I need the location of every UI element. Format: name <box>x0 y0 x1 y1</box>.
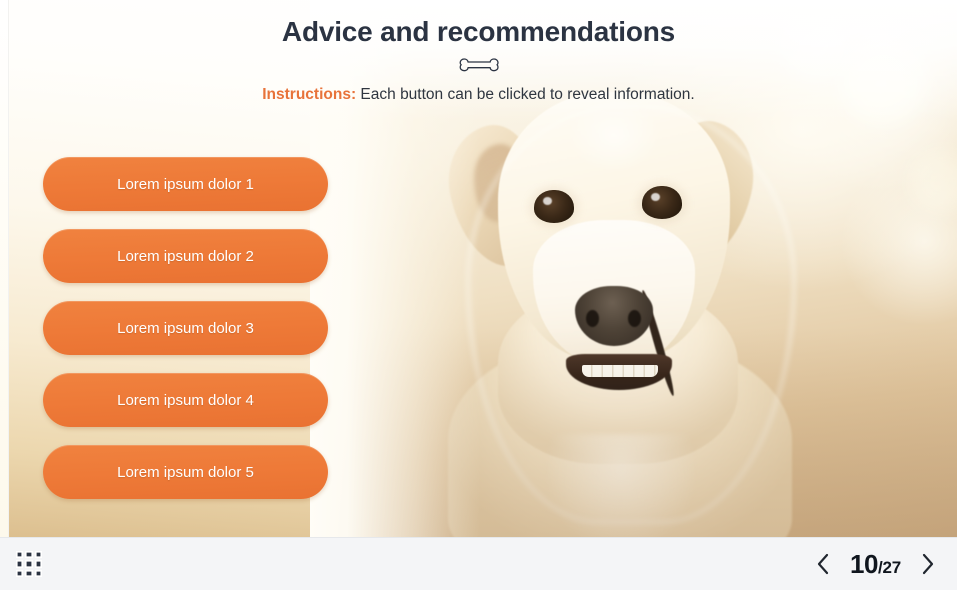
grid-menu-icon[interactable] <box>16 551 42 577</box>
page-title: Advice and recommendations <box>0 16 957 48</box>
grid-cell <box>25 551 32 558</box>
instructions-label: Instructions: <box>262 86 356 103</box>
grid-cell <box>35 570 42 577</box>
total-page-number: /27 <box>878 558 901 578</box>
grid-cell <box>35 560 42 567</box>
lesson-button-4[interactable]: Lorem ipsum dolor 4 <box>43 373 328 427</box>
lesson-button-list: Lorem ipsum dolor 1 Lorem ipsum dolor 2 … <box>43 157 328 517</box>
grid-cell <box>25 570 32 577</box>
grid-cell <box>35 551 42 558</box>
instructions-text: Each button can be clicked to reveal inf… <box>356 86 695 103</box>
lesson-button-3[interactable]: Lorem ipsum dolor 3 <box>43 301 328 355</box>
bone-icon <box>0 54 957 76</box>
instructions-line: Instructions: Each button can be clicked… <box>0 86 957 104</box>
slide-header: Advice and recommendations Instructions:… <box>0 0 957 104</box>
lesson-button-1[interactable]: Lorem ipsum dolor 1 <box>43 157 328 211</box>
grid-cell <box>16 551 23 558</box>
slide-root: Advice and recommendations Instructions:… <box>0 0 957 590</box>
chevron-left-icon[interactable] <box>812 550 834 578</box>
grid-cell <box>16 560 23 567</box>
current-page-number: 10 <box>850 549 878 580</box>
slide-footer: 10 /27 <box>0 537 957 590</box>
chevron-right-icon[interactable] <box>917 550 939 578</box>
pagination: 10 /27 <box>812 549 939 580</box>
slide-canvas: Advice and recommendations Instructions:… <box>0 0 957 537</box>
lesson-button-5[interactable]: Lorem ipsum dolor 5 <box>43 445 328 499</box>
page-indicator: 10 /27 <box>850 549 901 580</box>
lesson-button-2[interactable]: Lorem ipsum dolor 2 <box>43 229 328 283</box>
grid-cell <box>25 560 32 567</box>
grid-cell <box>16 570 23 577</box>
